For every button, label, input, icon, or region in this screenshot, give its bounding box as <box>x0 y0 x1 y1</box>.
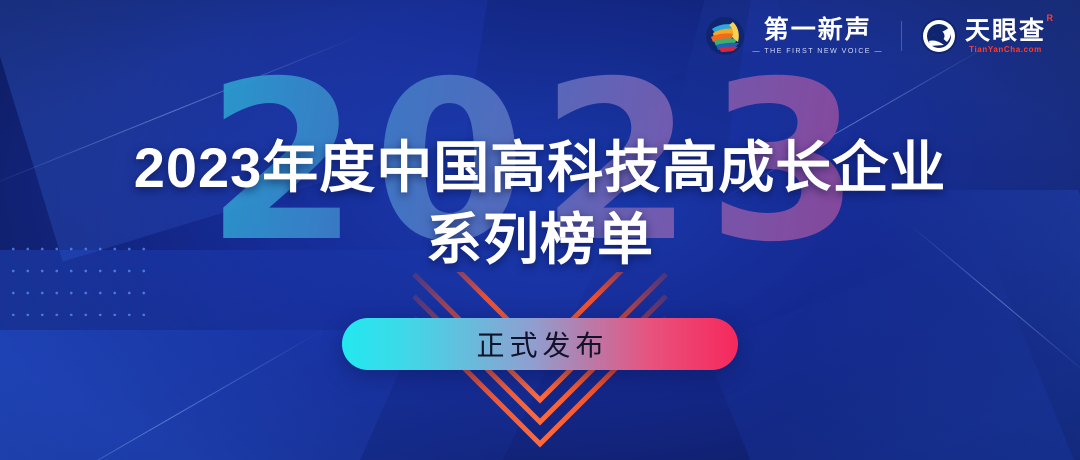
trademark-icon: R <box>1047 14 1056 23</box>
release-status-label: 正式发布 <box>471 324 608 364</box>
logo-diyixinsheng-text: 第一新声 — THE FIRST NEW VOICE — <box>752 17 883 54</box>
logo-diyixinsheng[interactable]: 第一新声 — THE FIRST NEW VOICE — <box>705 16 883 56</box>
title-line-1: 2023年度中国高科技高成长企业 <box>0 132 1080 204</box>
camera-aperture-logo-icon <box>920 17 958 55</box>
logo-tianyancha-tagline: TianYanCha.com <box>969 45 1042 54</box>
logo-bar: 第一新声 — THE FIRST NEW VOICE — 天眼查 R TianY… <box>705 16 1046 56</box>
logo-tianyancha-cn-label: 天眼查 <box>965 17 1046 45</box>
logo-tianyancha-text: 天眼查 R TianYanCha.com <box>965 18 1046 54</box>
poster-banner: 2023 <box>0 0 1080 460</box>
title-line-2: 系列榜单 <box>0 204 1080 276</box>
page-title: 2023年度中国高科技高成长企业 系列榜单 <box>0 132 1080 276</box>
logo-diyixinsheng-cn: 第一新声 <box>764 17 872 43</box>
logo-divider <box>901 21 902 51</box>
logo-tianyancha-cn: 天眼查 R <box>965 18 1046 44</box>
swirl-ribbon-logo-icon <box>705 16 745 56</box>
logo-tianyancha[interactable]: 天眼查 R TianYanCha.com <box>920 17 1046 55</box>
release-status-badge[interactable]: 正式发布 <box>342 318 738 370</box>
logo-diyixinsheng-tagline: — THE FIRST NEW VOICE — <box>752 46 883 55</box>
